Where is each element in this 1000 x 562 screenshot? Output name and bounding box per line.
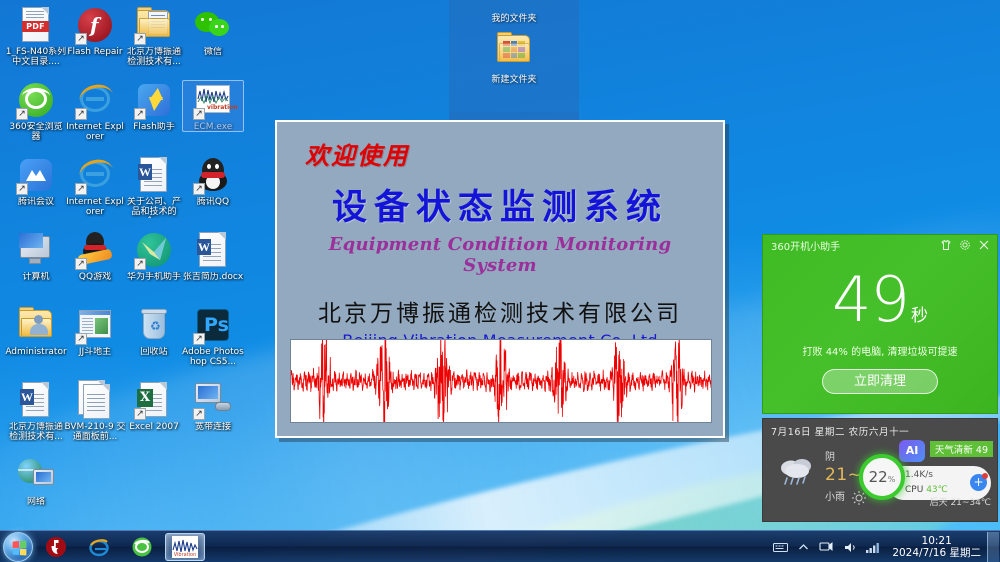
desktop-icon-label: 网络 [5,497,67,507]
meeting-icon: ↗ [16,155,56,195]
desktop-icon[interactable]: ↗QQ游戏 [64,230,126,282]
desktop-icon[interactable]: W张吉简历.docx [182,230,244,282]
desktop-icon[interactable]: ↗Internet Explorer [64,80,126,142]
desktop-icon-label: JJ斗地主 [64,347,126,357]
clock-time: 10:21 [892,535,981,547]
computer-icon [16,230,56,270]
shirt-icon[interactable] [939,238,953,252]
rain-cloud-icon [775,454,821,488]
desktop-icon[interactable]: ↗北京万博振通检测技术有... [123,5,185,67]
desktop-icon[interactable]: W关于公司、产品和技术的介... [123,155,185,218]
huawei-icon: ↗ [134,230,174,270]
desktop-icon[interactable]: 微信 [182,5,244,57]
flash-helper-icon: ↗ [134,80,174,120]
desktop-icon[interactable]: vibration↗ECM.exe [182,80,244,132]
user-folder-icon [16,305,56,345]
desktop-icon-label: Internet Explorer [64,197,126,217]
shortcut-arrow-icon: ↗ [16,108,28,120]
clock-date: 2024/7/16 星期二 [892,547,981,559]
sun-icon [851,490,867,506]
360-boot-assistant-widget[interactable]: 360开机小助手 49秒 打败 44% 的电脑, 清理垃圾可提速 立即清理 [762,234,998,414]
taskbar-button-ecm[interactable]: Vibration [165,533,205,561]
network-icon[interactable] [818,539,835,556]
shortcut-arrow-icon: ↗ [75,258,87,270]
show-hidden-icons-icon[interactable] [795,539,812,556]
desktop-icon[interactable]: ↗腾讯会议 [5,155,67,207]
desktop-icon[interactable]: W北京万博振通检测技术有... [5,380,67,442]
shortcut-arrow-icon: ↗ [193,108,205,120]
weather-widget[interactable]: 7月16日 星期二 农历六月十一 阴 21~31 小雨 AI 天气清新 49 [762,418,998,522]
desktop-icon[interactable]: ♻回收站 [123,305,185,357]
boot-subtitle: 打败 44% 的电脑, 清理垃圾可提速 [763,343,997,358]
desktop-icon[interactable]: BVM-210-9 交通面板前... [64,380,126,442]
svg-text:Vibration: Vibration [174,552,197,558]
desktop-icon[interactable]: ↗360安全浏览器 [5,80,67,142]
desktop-icon-label: 微信 [182,47,244,57]
ecm-icon: vibration↗ [193,80,233,120]
ie-icon: ↗ [75,80,115,120]
desktop-icon-label: 腾讯会议 [5,197,67,207]
desktop-icon-label: BVM-210-9 交通面板前... [64,422,126,442]
welcome-text: 欢迎使用 [305,136,711,171]
boot-time-display: 49秒 [763,269,997,331]
usage-percent-value: 22 [869,468,888,486]
wechat-icon [193,5,233,45]
broadband-icon: ↗ [193,380,233,420]
usage-percent-unit: % [888,475,896,484]
desktop-icon-label: Internet Explorer [64,122,126,142]
flash-icon: f↗ [75,5,115,45]
desktop-icon-label: Flash助手 [123,122,185,132]
company-name-chinese: 北京万博振通检测技术有限公司 [289,294,711,328]
folder-icon[interactable] [494,30,534,70]
desktop-icon[interactable]: ↗Internet Explorer [64,155,126,217]
window-app-icon: ↗ [75,305,115,345]
boot-seconds-unit: 秒 [911,306,928,326]
desktop-icon[interactable]: ↗JJ斗地主 [64,305,126,357]
show-desktop-button[interactable] [987,532,999,562]
vibration-waveform-chart [290,339,712,423]
windows-logo-icon [13,540,27,555]
doc-icon [75,380,115,420]
network-icon [16,455,56,495]
desktop-icon-label: 腾讯QQ [182,197,244,207]
system-tray[interactable]: 10:21 2024/7/16 星期二 [769,531,1000,562]
desktop-icon[interactable]: Ps↗Adobe Photoshop CS5... [182,305,244,367]
desktop-icon-label: 张吉简历.docx [182,272,244,282]
word-icon: W [134,155,174,195]
shortcut-arrow-icon: ↗ [193,183,205,195]
desktop[interactable]: PDF1_FS-N40系列中文目录....f↗Flash Repair↗北京万博… [0,0,1000,562]
photoshop-icon: Ps↗ [193,305,233,345]
shortcut-arrow-icon: ↗ [75,108,87,120]
desktop-icon-label: 北京万博振通检测技术有... [123,47,185,67]
ime-icon[interactable] [772,539,789,556]
shortcut-arrow-icon: ↗ [193,408,205,420]
desktop-icon[interactable]: PDF1_FS-N40系列中文目录.... [5,5,67,67]
desktop-icon[interactable]: X↗Excel 2007 [123,380,185,432]
shortcut-arrow-icon: ↗ [75,183,87,195]
pdf-icon: PDF [16,5,56,45]
desktop-icon-label: Administrator [5,347,67,357]
flash-icon [45,536,67,558]
ecm-splash-window[interactable]: 欢迎使用 设备状态监测系统 Equipment Condition Monito… [275,120,725,438]
internet-explorer-icon [88,536,110,558]
desktop-icon-label: Flash Repair [64,47,126,57]
word-icon: W [193,230,233,270]
folder-popup-name: 新建文件夹 [449,72,579,85]
360-browser-icon [131,536,153,558]
app-title-chinese: 设备状态监测系统 [289,179,711,230]
desktop-icon-label: 宽带连接 [182,422,244,432]
shortcut-arrow-icon: ↗ [75,33,87,45]
desktop-icon[interactable]: f↗Flash Repair [64,5,126,57]
widget-360-header: 360开机小助手 [763,235,997,255]
start-button[interactable] [3,532,33,562]
ai-badge[interactable]: AI [899,440,925,462]
shortcut-arrow-icon: ↗ [134,408,146,420]
shortcut-arrow-icon: ↗ [134,33,146,45]
taskbar[interactable]: Vibration 10:21 2024/7/16 星期二 [0,530,1000,562]
weather-forecast: 后天 21~34℃ [930,495,991,508]
desktop-icon-label: QQ游戏 [64,272,126,282]
desktop-icon-label: 计算机 [5,272,67,282]
desktop-icon-label: 360安全浏览器 [5,122,67,142]
boot-seconds-value: 49 [832,263,909,336]
word-icon: W [16,380,56,420]
close-icon[interactable] [977,238,991,252]
desktop-icon[interactable]: ↗腾讯QQ [182,155,244,207]
excel-icon: X↗ [134,380,174,420]
desktop-icon[interactable]: 计算机 [5,230,67,282]
taskbar-clock[interactable]: 10:21 2024/7/16 星期二 [892,535,981,559]
clean-now-button[interactable]: 立即清理 [822,369,938,394]
folder-selection-popup[interactable]: 我的文件夹 新建文件夹 [449,0,579,122]
taskbar-button-ie[interactable] [79,533,119,561]
desktop-icon[interactable]: Administrator [5,305,67,357]
taskbar-button-360browser[interactable] [122,533,162,561]
shortcut-arrow-icon: ↗ [75,333,87,345]
recycle-icon: ♻ [134,305,174,345]
shortcut-arrow-icon: ↗ [193,333,205,345]
weather-date: 7月16日 星期二 农历六月十一 [763,419,997,438]
widget-360-title: 360开机小助手 [771,238,840,253]
add-widget-button[interactable]: + [970,474,987,491]
desktop-icon-label: 华为手机助手 [123,272,185,282]
desktop-icon-label: 回收站 [123,347,185,357]
volume-icon[interactable] [841,539,858,556]
air-quality-badge: 天气清新 49 [930,441,993,457]
desktop-icon-label: 北京万博振通检测技术有... [5,422,67,442]
desktop-icon[interactable]: ↗宽带连接 [182,380,244,432]
360browser-icon: ↗ [16,80,56,120]
desktop-icon-label: 1_FS-N40系列中文目录.... [5,47,67,67]
desktop-icon[interactable]: 网络 [5,455,67,507]
desktop-icon-label: 关于公司、产品和技术的介... [123,197,185,218]
desktop-icon-label: Excel 2007 [123,422,185,432]
shortcut-arrow-icon: ↗ [16,183,28,195]
gear-icon[interactable] [958,238,972,252]
app-title-english: Equipment Condition Monitoring System [289,234,711,276]
waveform-svg [291,340,711,422]
desktop-icon-label: Adobe Photoshop CS5... [182,347,244,367]
qqgame-icon: ↗ [75,230,115,270]
shortcut-arrow-icon: ↗ [134,108,146,120]
signal-strength-icon[interactable] [864,539,881,556]
desktop-icon[interactable]: ↗华为手机助手 [123,230,185,282]
taskbar-button-flash[interactable] [36,533,76,561]
desktop-icon[interactable]: ↗Flash助手 [123,80,185,132]
folder-popup-header: 我的文件夹 [449,0,579,24]
qq-icon: ↗ [193,155,233,195]
ecm-waveform-icon: Vibration [172,536,198,558]
ie-icon: ↗ [75,155,115,195]
folder-doc-icon: ↗ [134,5,174,45]
shortcut-arrow-icon: ↗ [134,258,146,270]
